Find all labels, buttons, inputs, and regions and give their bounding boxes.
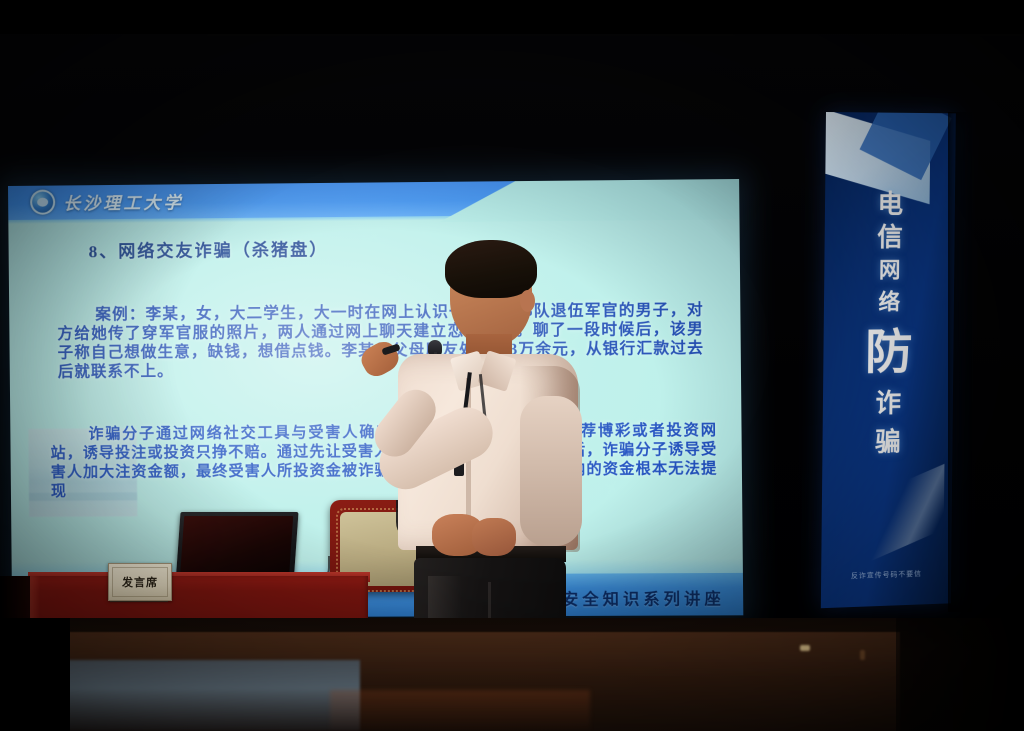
laptop-screen [180,516,293,578]
lecturer-right-arm [520,396,582,546]
university-emblem-icon [30,190,55,215]
nameplate-border: 发言席 [112,567,168,597]
banner-char-6: 骗 [875,426,901,459]
floor-light-spot [800,645,810,651]
desk-nameplate: 发言席 [108,563,172,601]
banner-char-1: 电 [877,188,903,221]
banner-char-5: 诈 [875,387,901,420]
nameplate-text: 发言席 [122,574,158,590]
university-logo: 长沙理工大学 [30,188,184,214]
lecturer-hair [445,240,537,298]
banner-char-2: 信 [877,221,903,254]
university-logo-text: 长沙理工大学 [63,188,184,214]
dark-top-border [0,0,1024,34]
banner-footer-text: 反诈宣传号码不要信 [821,568,951,582]
banner-char-4: 络 [878,288,900,318]
floor-screen-reflection [60,660,360,731]
floor-shadow-right [896,618,1024,731]
lecturer-ear [520,290,535,312]
floor-warm-reflection [330,690,590,731]
floor-object [860,650,865,660]
photo-scene: 长沙理工大学 8、网络交友诈骗（杀猪盘） 案例：李某，女，大二学生，大一时在网上… [0,0,1024,731]
lecturer-right-hand-fingers [472,518,516,556]
rollup-banner: 电 信 网 络 防 诈 骗 反诈宣传号码不要信 [821,112,956,608]
banner-vertical-text: 电 信 网 络 防 诈 骗 [822,188,955,460]
floor-shadow-left [0,618,70,731]
banner-char-big: 防 [865,325,913,381]
banner-char-3: 网 [879,256,901,286]
banner-wave-graphic [859,464,944,566]
banner-edge-shadow [948,112,972,612]
